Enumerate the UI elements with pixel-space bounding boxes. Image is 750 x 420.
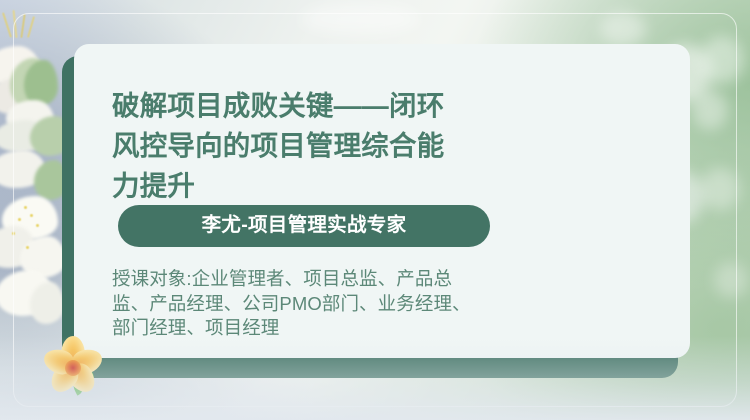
poster-canvas: 破解项目成败关键——闭环风控导向的项目管理综合能力提升 李尤-项目管理实战专家 … bbox=[0, 0, 750, 420]
background-bottom-haze bbox=[0, 0, 750, 420]
